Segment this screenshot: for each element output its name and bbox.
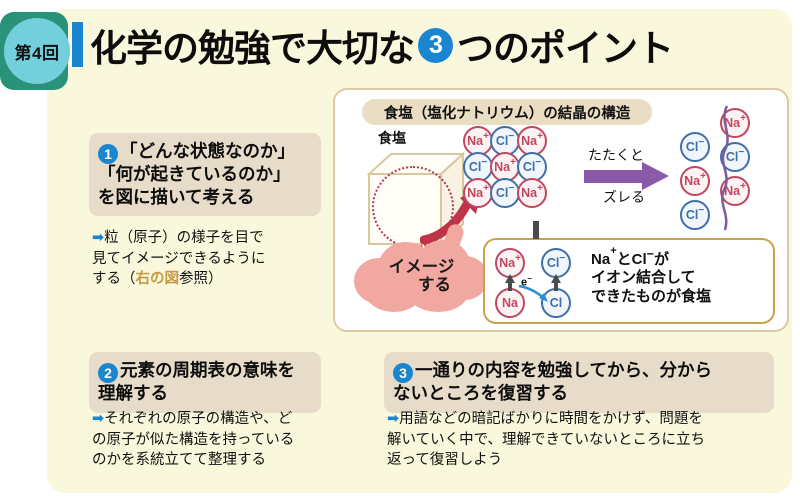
point-2-heading: 2元素の周期表の意味を 理解する bbox=[89, 352, 321, 413]
ion-lattice: Na+ Cl− Na+ Cl− Na+ Cl− Na+ Cl− Na+ bbox=[463, 126, 544, 204]
bubble-line-2: する bbox=[392, 276, 451, 294]
point-1-body-line3b: 参照） bbox=[179, 271, 223, 287]
bond-text-line3: できたものが食塩 bbox=[591, 288, 711, 306]
ionic-bond-text: Na+とCl−が イオン結合して できたものが食塩 bbox=[591, 247, 711, 306]
ionic-bond-box: Na+ Cl− Na Cl e− Na+とCl−が イオン結合して できたものが… bbox=[483, 238, 775, 324]
lattice-row: Na+ Cl− Na+ bbox=[463, 178, 544, 208]
point-1-body: ➡粒（原子）の様子を目で 見てイメージできるように する（右の図参照） bbox=[92, 228, 328, 290]
crack-line-icon bbox=[711, 104, 741, 232]
point-1-number: 1 bbox=[98, 144, 118, 164]
title-accent-bar bbox=[72, 22, 83, 67]
crystal-structure-diagram: 食塩（塩化ナトリウム）の結晶の構造 食塩 イメージ する bbox=[333, 88, 789, 332]
point-2-body-line1: それぞれの原子の構造や、ど bbox=[104, 411, 292, 427]
bond-text-line2: イオン結合して bbox=[591, 269, 711, 287]
ion-cl: Cl− bbox=[490, 178, 520, 208]
point-3-number: 3 bbox=[393, 363, 413, 383]
arrow-icon: ➡ bbox=[92, 230, 104, 246]
point-2-head-line2: 理解する bbox=[98, 383, 168, 403]
infographic-page: 第4回 化学の勉強で大切な 3 つのポイント 食塩（塩化ナトリウム）の結晶の構造… bbox=[0, 0, 800, 502]
point-3-body-line2: 解いていく中で、理解できていないところに立ち bbox=[387, 432, 705, 448]
point-2-number: 2 bbox=[98, 363, 118, 383]
point-1-body-highlight: 右の図 bbox=[136, 271, 180, 287]
point-3-body-line1: 用語などの暗記ばかりに時間をかけず、問題を bbox=[399, 411, 703, 427]
image-it-bubble-text: イメージ する bbox=[354, 242, 489, 310]
point-2-head-line1: 元素の周期表の意味を bbox=[120, 360, 295, 380]
ion-na: Na+ bbox=[463, 178, 493, 208]
point-2-body-line2: の原子が似た構造を持っている bbox=[92, 432, 294, 448]
point-1-heading: 1「どんな状態なのか」 「何が起きているのか」 を図に描いて考える bbox=[89, 133, 321, 216]
shift-arrow-icon bbox=[584, 165, 670, 187]
bond-ion-group: Na+ Cl− Na Cl e− bbox=[493, 246, 589, 316]
bond-text-line1: Na+とCl−が bbox=[591, 247, 711, 269]
point-3-head-line2: ないところを復習する bbox=[393, 383, 568, 403]
page-title-number: 3 bbox=[418, 28, 453, 63]
arrow-icon: ➡ bbox=[92, 411, 104, 427]
ion-na: Na+ bbox=[517, 178, 547, 208]
point-3-body: ➡用語などの暗記ばかりに時間をかけず、問題を 解いていく中で、理解できていないと… bbox=[387, 409, 785, 471]
point-1-body-line1: 粒（原子）の様子を目で bbox=[104, 230, 264, 246]
point-1-head-line1: 「どんな状態なのか」 bbox=[120, 141, 295, 161]
bubble-line-1: イメージ bbox=[389, 258, 455, 276]
ion-cl: Cl− bbox=[680, 200, 710, 230]
point-1-head-line2: 「何が起きているのか」 bbox=[98, 164, 291, 184]
electron-transfer-arrow-icon bbox=[517, 282, 551, 304]
strike-caption-bottom: ズレる bbox=[603, 187, 645, 207]
point-3-heading: 3一通りの内容を勉強してから、分から ないところを復習する bbox=[384, 352, 774, 413]
point-3-body-line3: 返って復習しよう bbox=[387, 452, 502, 468]
point-2-body: ➡それぞれの原子の構造や、ど の原子が似た構造を持っている のかを系統立てて整理… bbox=[92, 409, 332, 471]
point-1-body-line3a: する（ bbox=[92, 271, 136, 287]
page-title-part1: 化学の勉強で大切な bbox=[90, 18, 414, 72]
point-1-body-line2: 見てイメージできるように bbox=[92, 251, 265, 267]
ion-na: Na+ bbox=[680, 166, 710, 196]
diagram-heading-label: 食塩（塩化ナトリウム）の結晶の構造 bbox=[384, 102, 631, 123]
bondbox-connector bbox=[533, 221, 539, 239]
cube-label: 食塩 bbox=[378, 128, 406, 148]
point-1-head-line3: を図に描いて考える bbox=[98, 187, 254, 207]
diagram-heading: 食塩（塩化ナトリウム）の結晶の構造 bbox=[362, 99, 652, 125]
arrow-icon: ➡ bbox=[387, 411, 399, 427]
page-title-part2: つのポイント bbox=[457, 18, 673, 72]
strike-caption-top: たたくと bbox=[588, 145, 644, 165]
page-title: 化学の勉強で大切な 3 つのポイント bbox=[90, 18, 673, 72]
episode-badge: 第4回 bbox=[4, 18, 70, 84]
point-3-head-line1: 一通りの内容を勉強してから、分から bbox=[415, 360, 712, 380]
ion-cl: Cl− bbox=[680, 132, 710, 162]
point-2-body-line3: のかを系統立てて整理する bbox=[92, 452, 266, 468]
episode-badge-label: 第4回 bbox=[15, 39, 60, 64]
